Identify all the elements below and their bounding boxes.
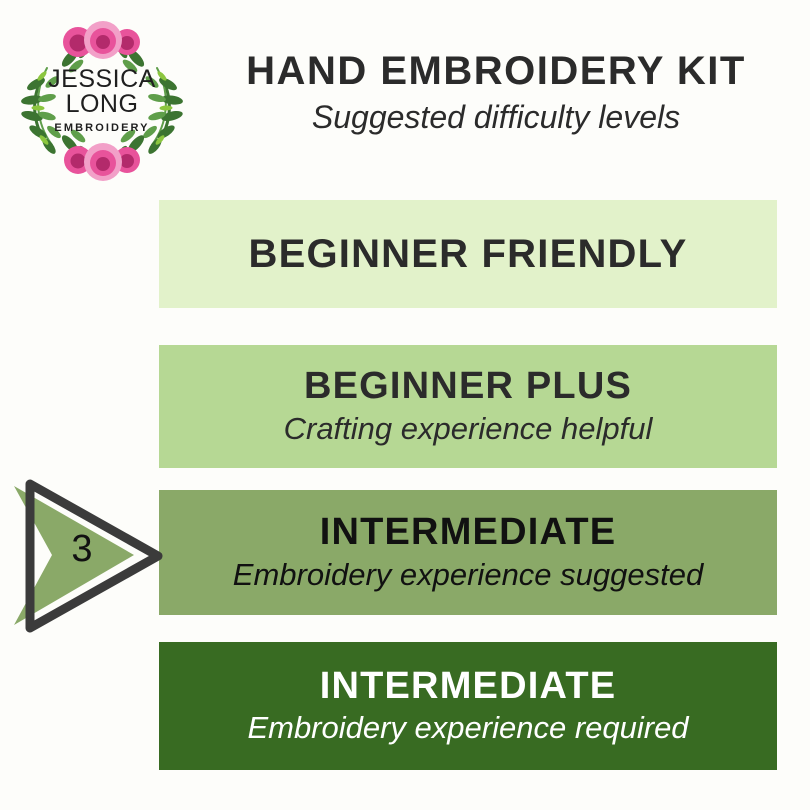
level-row-beginner-friendly[interactable]: BEGINNER FRIENDLY — [159, 200, 777, 308]
level-description: Embroidery experience required — [247, 711, 688, 745]
level-row-intermediate-required[interactable]: INTERMEDIATE Embroidery experience requi… — [159, 642, 777, 770]
level-description: Embroidery experience suggested — [233, 558, 703, 592]
level-description: Crafting experience helpful — [284, 412, 653, 446]
level-name: INTERMEDIATE — [320, 513, 617, 553]
level-name: INTERMEDIATE — [320, 667, 617, 707]
level-name: BEGINNER PLUS — [304, 367, 632, 407]
level-name: BEGINNER FRIENDLY — [249, 233, 688, 275]
level-row-intermediate-suggested[interactable]: INTERMEDIATE Embroidery experience sugge… — [159, 490, 777, 615]
infographic-page: JESSICA LONG EMBROIDERY HAND EMBROIDERY … — [0, 0, 810, 810]
difficulty-levels-list: BEGINNER FRIENDLY BEGINNER PLUS Crafting… — [0, 0, 810, 810]
level-row-beginner-plus[interactable]: BEGINNER PLUS Crafting experience helpfu… — [159, 345, 777, 468]
pointer-step-number: 3 — [62, 530, 102, 568]
